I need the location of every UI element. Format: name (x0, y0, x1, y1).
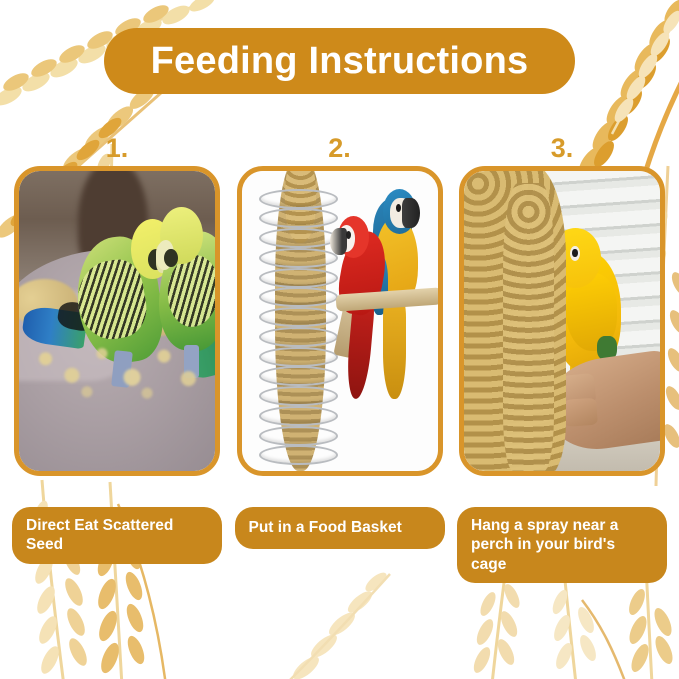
step-1: 1. (12, 130, 222, 583)
feeding-instructions-infographic: Feeding Instructions 1. (0, 0, 679, 679)
step-caption-3: Hang a spray near a perch in your bird's… (457, 507, 667, 583)
step-image-card-3 (459, 166, 665, 476)
spiral-basket-coils (259, 183, 337, 465)
step-image-card-1 (14, 166, 220, 476)
step-3: 3. (457, 130, 667, 583)
steps-row: 1. (0, 130, 679, 583)
photo-conure-eating-hanging-millet-spray (464, 171, 660, 471)
photo-spiral-food-basket-with-macaws (242, 171, 438, 471)
wheat-stalk-icon-top-right-pale (600, 0, 679, 142)
step-2: 2. (235, 130, 445, 583)
step-number-3: 3. (551, 130, 574, 166)
step-number-2: 2. (328, 130, 351, 166)
step-caption-1: Direct Eat Scattered Seed (12, 507, 222, 564)
step-caption-2: Put in a Food Basket (235, 507, 445, 549)
photo-budgies-eating-seed (19, 171, 215, 471)
step-image-card-2 (237, 166, 443, 476)
page-title: Feeding Instructions (151, 42, 529, 80)
step-number-1: 1. (106, 130, 129, 166)
title-banner: Feeding Instructions (104, 28, 575, 94)
